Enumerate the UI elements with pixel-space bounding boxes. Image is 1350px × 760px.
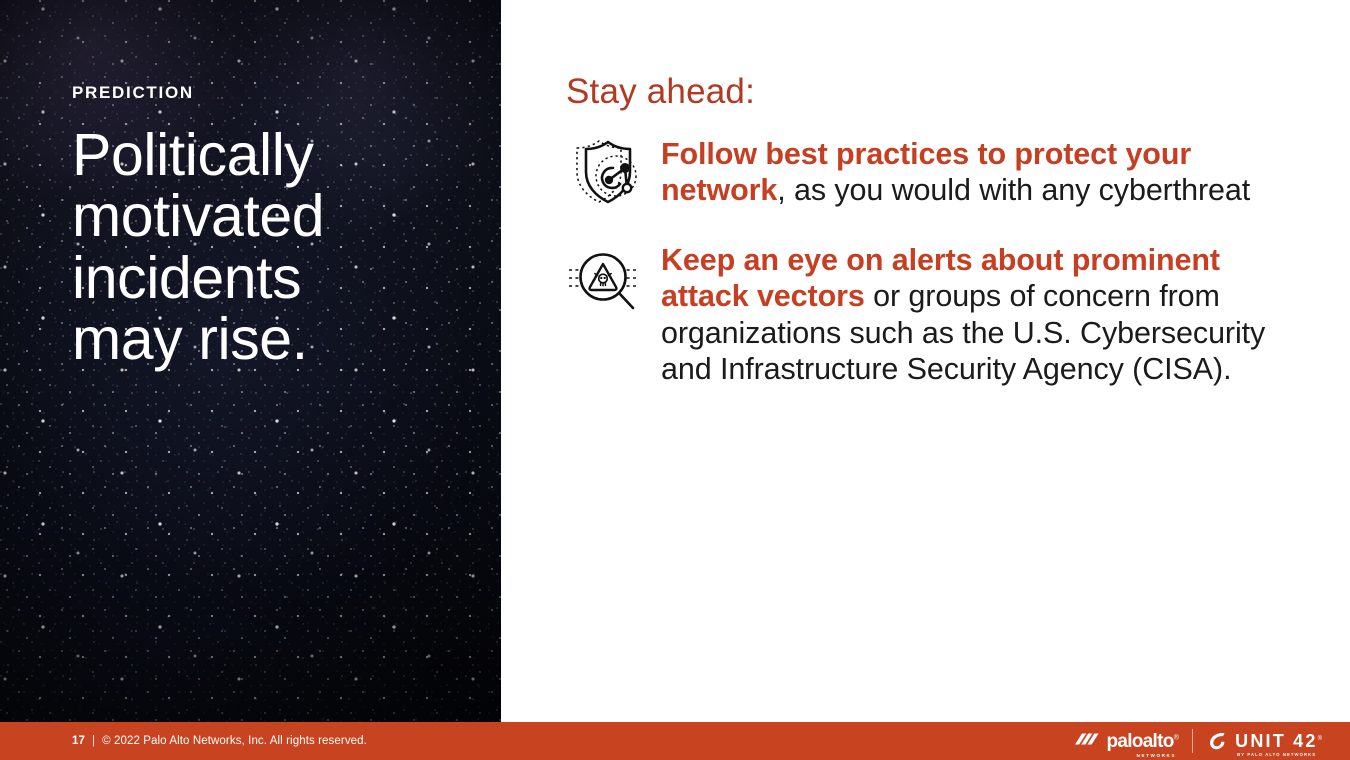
left-text-block: PREDICTION Politically motivated inciden… — [72, 84, 472, 370]
list-item: Keep an eye on alerts about prominent at… — [561, 238, 1301, 388]
paloalto-mark-icon — [1074, 730, 1100, 752]
slide: PREDICTION Politically motivated inciden… — [0, 0, 1350, 760]
unit42-logo: UNIT 42®BY PALO ALTO NETWORKS — [1207, 730, 1322, 752]
magnifier-threat-icon — [561, 238, 647, 316]
paloalto-registered-mark: ® — [1174, 734, 1178, 741]
left-starfield-panel: PREDICTION Politically motivated inciden… — [0, 0, 501, 722]
logo-divider — [1192, 729, 1193, 753]
unit42-subtext: BY PALO ALTO NETWORKS — [1237, 753, 1316, 757]
paloalto-wordmark: paloalto®NETWORKS — [1106, 732, 1178, 751]
unit42-mark-icon — [1207, 730, 1229, 752]
shield-network-icon — [561, 132, 647, 210]
list-item-text: Follow best practices to protect your ne… — [661, 132, 1301, 209]
paloalto-subtext: NETWORKS — [1137, 754, 1177, 759]
right-content-panel: Stay ahead: — [501, 0, 1350, 722]
paloalto-logo: paloalto®NETWORKS — [1074, 730, 1178, 752]
stay-ahead-heading: Stay ahead: — [566, 74, 755, 109]
unit42-wordmark: UNIT 42®BY PALO ALTO NETWORKS — [1235, 732, 1322, 750]
list-item-text: Keep an eye on alerts about prominent at… — [661, 238, 1301, 388]
footer-logos: paloalto®NETWORKS UNIT 42®BY PALO ALTO N… — [1074, 729, 1334, 753]
list-item-rest: , as you would with any cyberthreat — [777, 173, 1250, 207]
footer-bar: 17 | © 2022 Palo Alto Networks, Inc. All… — [0, 722, 1350, 760]
page-number: 17 — [72, 735, 85, 747]
recommendation-list: Follow best practices to protect your ne… — [561, 132, 1301, 416]
copyright-text: © 2022 Palo Alto Networks, Inc. All righ… — [102, 735, 367, 747]
paloalto-name: paloalto — [1106, 731, 1173, 752]
page-title: Politically motivated incidents may rise… — [72, 125, 472, 370]
footer-left-group: 17 | © 2022 Palo Alto Networks, Inc. All… — [72, 735, 367, 747]
unit42-registered-mark: ® — [1318, 736, 1322, 742]
prediction-eyebrow-label: PREDICTION — [72, 84, 472, 101]
list-item: Follow best practices to protect your ne… — [561, 132, 1301, 210]
unit42-name: UNIT 42 — [1235, 731, 1317, 751]
footer-separator: | — [92, 735, 95, 747]
